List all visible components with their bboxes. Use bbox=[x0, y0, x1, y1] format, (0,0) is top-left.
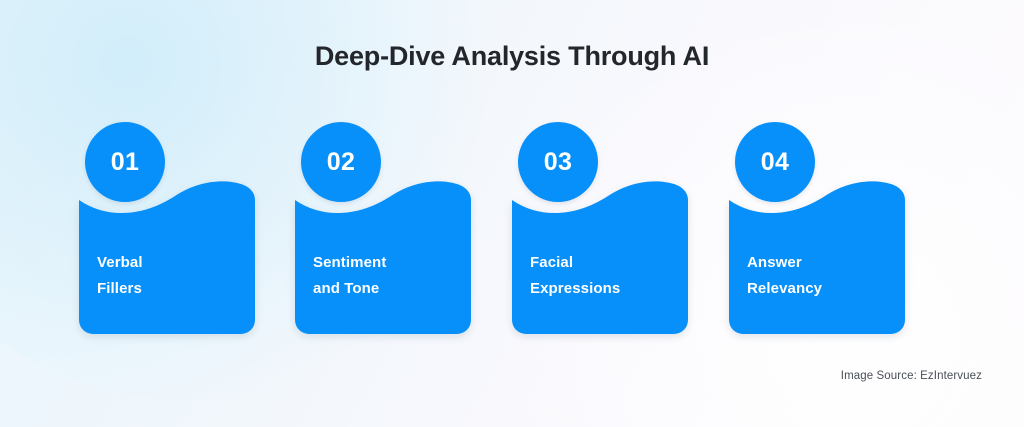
card-number-label: 02 bbox=[327, 150, 355, 175]
page-title: Deep-Dive Analysis Through AI bbox=[0, 41, 1024, 72]
card-label: Sentiment and Tone bbox=[313, 250, 463, 302]
card-label-line-2: Fillers bbox=[97, 276, 247, 302]
card-label-line-2: Expressions bbox=[530, 276, 680, 302]
card-label-line-2: and Tone bbox=[313, 276, 463, 302]
card-number-label: 01 bbox=[111, 150, 139, 175]
card-label-line-1: Sentiment bbox=[313, 250, 463, 276]
analysis-card-04[interactable]: 04 Answer Relevancy bbox=[729, 122, 905, 334]
analysis-card-01[interactable]: 01 Verbal Fillers bbox=[79, 122, 255, 334]
card-label-line-1: Answer bbox=[747, 250, 897, 276]
card-label: Facial Expressions bbox=[530, 250, 680, 302]
card-number-badge: 03 bbox=[518, 122, 598, 202]
card-label-line-1: Verbal bbox=[97, 250, 247, 276]
analysis-card-03[interactable]: 03 Facial Expressions bbox=[512, 122, 688, 334]
card-number-label: 03 bbox=[544, 150, 572, 175]
card-number-label: 04 bbox=[761, 150, 789, 175]
card-label-line-1: Facial bbox=[530, 250, 680, 276]
image-source-attribution: Image Source: EzIntervuez bbox=[841, 370, 982, 382]
infographic-canvas: Deep-Dive Analysis Through AI 01 Verbal … bbox=[0, 0, 1024, 427]
card-label: Answer Relevancy bbox=[747, 250, 897, 302]
card-label: Verbal Fillers bbox=[97, 250, 247, 302]
card-number-badge: 01 bbox=[85, 122, 165, 202]
analysis-card-02[interactable]: 02 Sentiment and Tone bbox=[295, 122, 471, 334]
card-number-badge: 02 bbox=[301, 122, 381, 202]
card-label-line-2: Relevancy bbox=[747, 276, 897, 302]
card-number-badge: 04 bbox=[735, 122, 815, 202]
analysis-cards-row: 01 Verbal Fillers 02 Sentiment and Tone bbox=[79, 122, 905, 334]
